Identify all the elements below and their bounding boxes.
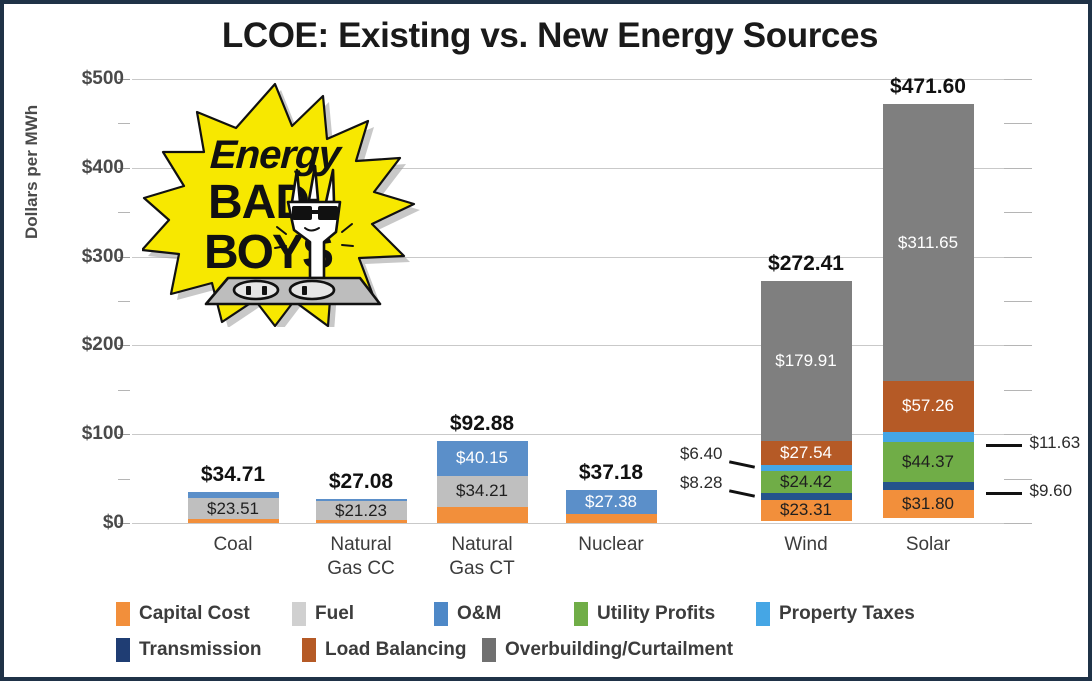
callout-label: $8.28	[641, 473, 723, 493]
legend-item-transmission[interactable]: Transmission	[116, 638, 302, 662]
legend-swatch	[482, 638, 496, 662]
bar-segment-fuel[interactable]: $34.21	[437, 476, 528, 506]
segment-value-label: $34.21	[456, 481, 508, 501]
legend: Capital CostFuelO&MUtility ProfitsProper…	[116, 602, 1076, 662]
gridline	[132, 434, 1004, 435]
bar-natural-gas-ct[interactable]: $40.15$34.21	[437, 441, 528, 523]
y-axis-tick-right	[1004, 168, 1032, 169]
legend-swatch	[116, 602, 130, 626]
legend-label: O&M	[457, 603, 501, 625]
legend-swatch	[302, 638, 316, 662]
legend-swatch	[574, 602, 588, 626]
legend-swatch	[116, 638, 130, 662]
callout-leader-line	[728, 461, 754, 469]
legend-swatch	[756, 602, 770, 626]
bar-segment-capital-cost[interactable]	[437, 507, 528, 523]
legend-label: Load Balancing	[325, 639, 466, 661]
bar-wind[interactable]: $179.91$27.54$24.42$23.31	[761, 281, 852, 523]
gridline	[132, 345, 1004, 346]
legend-label: Fuel	[315, 603, 354, 625]
bar-segment-capital-cost[interactable]: $31.80	[883, 490, 974, 518]
callout-label: $11.63	[1030, 433, 1081, 453]
bar-segment-capital-cost[interactable]	[316, 520, 407, 523]
legend-swatch	[434, 602, 448, 626]
page-title: LCOE: Existing vs. New Energy Sources	[4, 16, 1092, 56]
callout-label: $6.40	[641, 444, 723, 464]
segment-value-label: $27.38	[585, 492, 637, 512]
y-axis-minor-tick-right	[1004, 479, 1032, 480]
energy-bad-boys-logo: Energy BAD BOYS	[142, 82, 420, 327]
segment-value-label: $40.15	[456, 448, 508, 468]
y-axis-minor-tick	[118, 123, 130, 124]
segment-value-label: $23.31	[780, 500, 832, 520]
callout-leader-line	[728, 489, 754, 497]
bar-segment-o-m[interactable]: $40.15	[437, 441, 528, 477]
legend-label: Transmission	[139, 639, 262, 661]
y-axis-tick-right	[1004, 257, 1032, 258]
x-axis-category-label: Nuclear	[531, 533, 691, 557]
bar-segment-capital-cost[interactable]	[566, 514, 657, 523]
legend-label: Capital Cost	[139, 603, 250, 625]
bar-segment-transmission[interactable]	[761, 493, 852, 500]
callout-leader-line	[986, 492, 1022, 495]
bar-total-label: $272.41	[761, 252, 852, 276]
bar-natural-gas-cc[interactable]: $21.23	[316, 499, 407, 523]
bar-segment-capital-cost[interactable]	[188, 519, 279, 523]
bar-segment-fuel[interactable]: $21.23	[316, 501, 407, 520]
y-axis-minor-tick-right	[1004, 212, 1032, 213]
bar-segment-utility-profits[interactable]: $24.42	[761, 471, 852, 493]
gridline	[132, 79, 1004, 80]
segment-value-label: $27.54	[780, 443, 832, 463]
category-label-line: Gas CT	[402, 557, 562, 581]
legend-item-o-m[interactable]: O&M	[434, 602, 574, 626]
y-axis-minor-tick-right	[1004, 301, 1032, 302]
y-axis-minor-tick	[118, 390, 130, 391]
bar-segment-load-balancing[interactable]: $27.54	[761, 441, 852, 465]
legend-label: Overbuilding/Curtailment	[505, 639, 733, 661]
x-axis-category-label: Solar	[848, 533, 1008, 557]
legend-label: Property Taxes	[779, 603, 915, 625]
segment-value-label: $24.42	[780, 472, 832, 492]
bar-segment-load-balancing[interactable]: $57.26	[883, 381, 974, 432]
y-axis-tick-right	[1004, 523, 1032, 524]
segment-value-label: $23.51	[207, 499, 259, 519]
y-axis-minor-tick-right	[1004, 390, 1032, 391]
bar-segment-o-m[interactable]: $27.38	[566, 490, 657, 514]
bar-solar[interactable]: $311.65$57.26$44.37$31.80	[883, 104, 974, 523]
bar-segment-fuel[interactable]: $23.51	[188, 498, 279, 519]
segment-value-label: $44.37	[902, 452, 954, 472]
segment-value-label: $311.65	[898, 233, 958, 253]
legend-item-load-balancing[interactable]: Load Balancing	[302, 638, 482, 662]
bar-segment-utility-profits[interactable]: $44.37	[883, 442, 974, 481]
legend-item-fuel[interactable]: Fuel	[292, 602, 434, 626]
bar-segment-transmission[interactable]	[883, 482, 974, 491]
y-axis-tick-right	[1004, 345, 1032, 346]
segment-value-label: $179.91	[775, 351, 836, 371]
legend-item-property-taxes[interactable]: Property Taxes	[756, 602, 915, 626]
bar-total-label: $92.88	[437, 412, 528, 436]
legend-swatch	[292, 602, 306, 626]
svg-text:Energy: Energy	[209, 133, 344, 177]
bar-coal[interactable]: $23.51	[188, 492, 279, 523]
y-axis-minor-tick	[118, 479, 130, 480]
bar-segment-property-taxes[interactable]	[883, 432, 974, 442]
y-axis-minor-tick	[118, 301, 130, 302]
legend-row-secondary: TransmissionLoad BalancingOverbuilding/C…	[116, 638, 1076, 662]
legend-item-capital-cost[interactable]: Capital Cost	[116, 602, 292, 626]
callout-label: $9.60	[1030, 481, 1073, 501]
legend-label: Utility Profits	[597, 603, 715, 625]
legend-row-primary: Capital CostFuelO&MUtility ProfitsProper…	[116, 602, 1076, 626]
gridline	[132, 523, 1004, 524]
y-axis-minor-tick-right	[1004, 123, 1032, 124]
legend-item-utility-profits[interactable]: Utility Profits	[574, 602, 756, 626]
y-axis-tick-label: $0	[4, 512, 124, 534]
category-label-line: Solar	[848, 533, 1008, 557]
chart-frame: LCOE: Existing vs. New Energy Sources Do…	[0, 0, 1092, 681]
segment-value-label: $57.26	[902, 396, 954, 416]
y-axis-tick-right	[1004, 434, 1032, 435]
bar-total-label: $34.71	[188, 463, 279, 487]
y-axis-minor-tick	[118, 212, 130, 213]
segment-value-label: $21.23	[335, 501, 387, 521]
category-label-line: Nuclear	[531, 533, 691, 557]
y-axis-tick-label: $500	[4, 68, 124, 90]
segment-value-label: $31.80	[902, 494, 954, 514]
legend-item-overbuilding-curtailment[interactable]: Overbuilding/Curtailment	[482, 638, 733, 662]
bar-nuclear[interactable]: $27.38	[566, 490, 657, 523]
callout-leader-line	[986, 444, 1022, 447]
y-axis-tick-label: $200	[4, 334, 124, 356]
y-axis-tick-label: $100	[4, 423, 124, 445]
bar-segment-overbuilding-curtailment[interactable]: $179.91	[761, 281, 852, 441]
bar-total-label: $471.60	[883, 75, 974, 99]
bar-segment-capital-cost[interactable]: $23.31	[761, 500, 852, 521]
y-axis-tick-right	[1004, 79, 1032, 80]
bar-total-label: $27.08	[316, 470, 407, 494]
y-axis-tick-label: $300	[4, 246, 124, 268]
y-axis-tick-label: $400	[4, 157, 124, 179]
bar-segment-overbuilding-curtailment[interactable]: $311.65	[883, 104, 974, 381]
